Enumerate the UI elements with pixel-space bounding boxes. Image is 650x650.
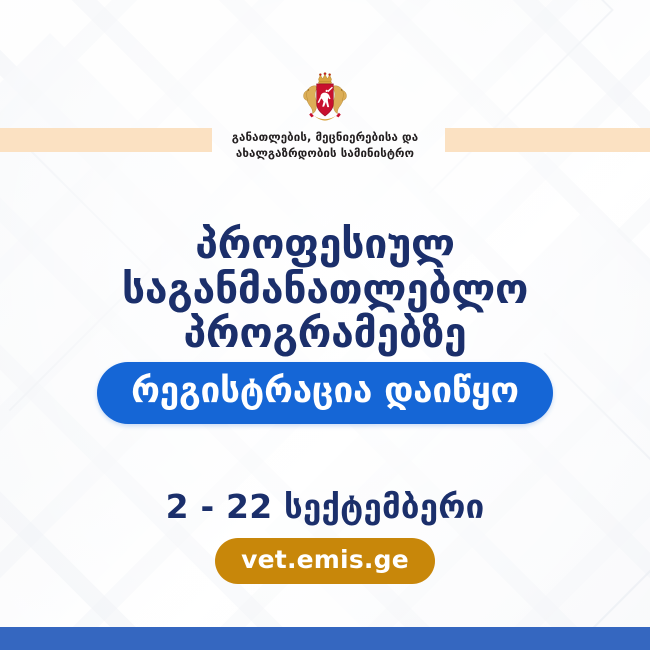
ministry-header: განათლების, მეცნიერებისა და ახალგაზრდობი… xyxy=(0,70,650,162)
website-url-badge[interactable]: vet.emis.ge xyxy=(215,538,435,584)
poster-canvas: განათლების, მეცნიერებისა და ახალგაზრდობი… xyxy=(0,0,650,650)
ministry-name: განათლების, მეცნიერებისა და ახალგაზრდობი… xyxy=(232,130,418,162)
headline-line-3: პროგრამებზე xyxy=(0,311,650,356)
registration-started-badge[interactable]: რეგისტრაცია დაიწყო xyxy=(97,362,553,424)
cta-row: რეგისტრაცია დაიწყო xyxy=(0,362,650,424)
page-title: პროფესიულ საგანმანათლებლო პროგრამებზე xyxy=(0,222,650,356)
georgia-coat-of-arms-icon xyxy=(297,70,353,122)
url-row: vet.emis.ge xyxy=(0,538,650,584)
footer-band xyxy=(0,627,650,650)
date-range-label: 2 - 22 სექტემბერი xyxy=(0,489,650,525)
headline-line-1: პროფესიულ xyxy=(0,222,650,267)
headline-line-2: საგანმანათლებლო xyxy=(0,267,650,312)
